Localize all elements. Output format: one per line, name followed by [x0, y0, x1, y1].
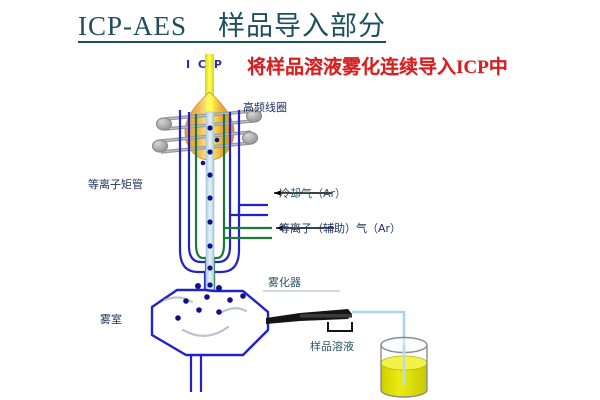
label-icp: I C P	[186, 58, 224, 71]
label-plasma-torch: 等离子矩管	[88, 176, 143, 192]
label-sample-solution: 样品溶液	[310, 338, 354, 354]
label-cooling-gas: 冷却气（Ar）	[279, 185, 346, 201]
label-rf-coil: 高频线圈	[243, 99, 287, 115]
nebulizer	[266, 309, 352, 331]
label-spray-chamber: 雾室	[100, 311, 122, 327]
label-plasma-gas: 等离子（辅助）气（Ar）	[279, 220, 401, 236]
cooling-gas-inlet	[230, 205, 268, 215]
label-nebulizer: 雾化器	[268, 274, 301, 290]
sample-beaker	[381, 338, 427, 398]
plasma-gas-inlet	[224, 228, 272, 238]
slide-canvas: ICP-AES 样品导入部分 将样品溶液雾化连续导入ICP中	[0, 0, 600, 400]
spray-chamber	[152, 290, 268, 392]
